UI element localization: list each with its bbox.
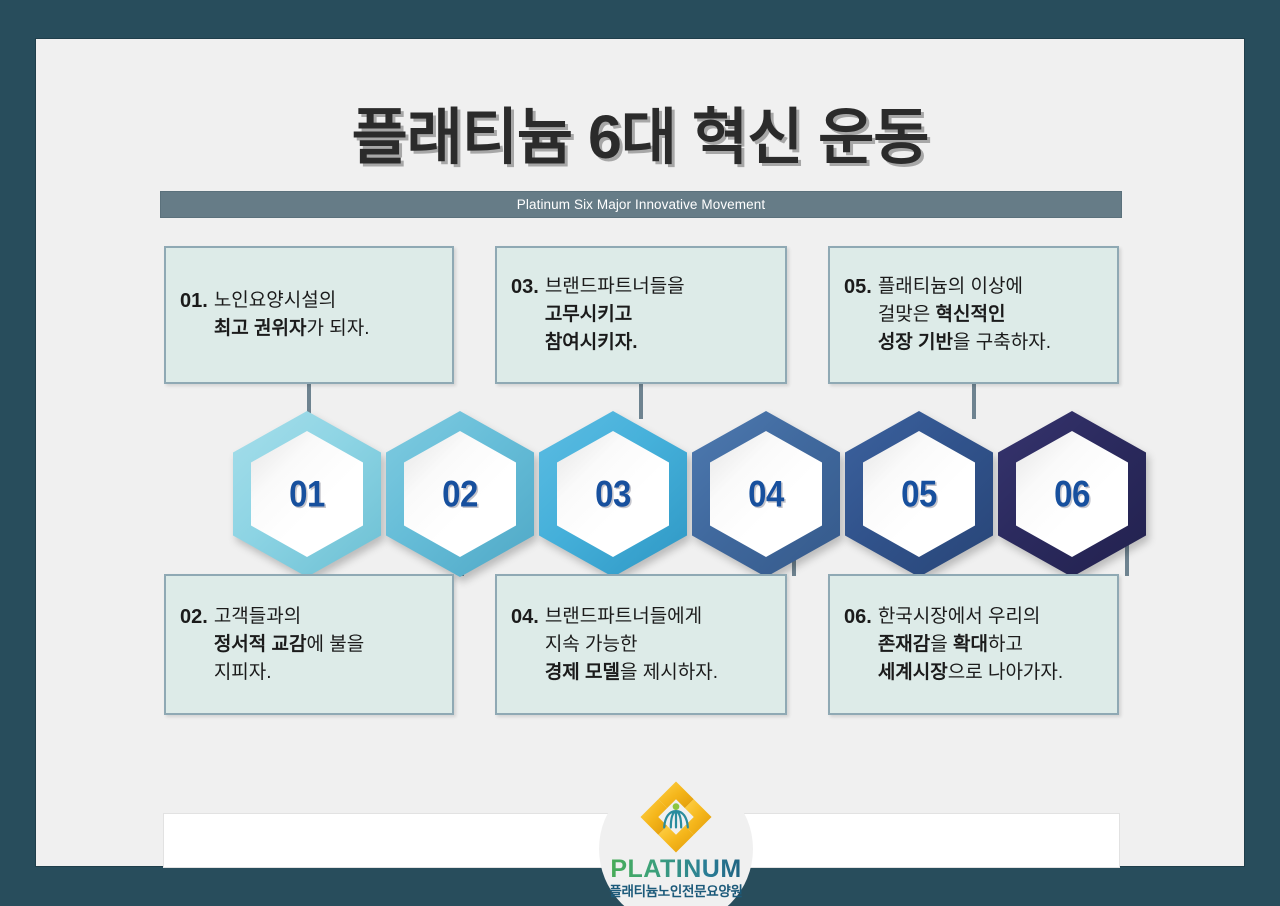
- info-tail: 하고: [988, 633, 1023, 654]
- info-box-text: 고객들과의 정서적 교감에 불을 지피자.: [214, 602, 364, 686]
- info-emphasis: 고무시키고: [545, 304, 632, 325]
- info-box-number: 04.: [511, 602, 539, 632]
- poster-canvas: 플래티늄 6대 혁신 운동 Platinum Six Major Innovat…: [0, 0, 1280, 906]
- hexagon-03[interactable]: 03: [539, 411, 687, 577]
- info-box-05: 05. 플래티늄의 이상에 걸맞은 혁신적인 성장 기반을 구축하자.: [828, 246, 1119, 384]
- info-line: 고무시키고: [545, 301, 685, 329]
- info-line: 성장 기반을 구축하자.: [878, 329, 1051, 357]
- info-emphasis: 정서적 교감: [214, 633, 307, 654]
- hexagon-number: 06: [1054, 473, 1090, 516]
- info-line: 플래티늄의 이상에: [878, 273, 1051, 301]
- info-box-text: 브랜드파트너들을 고무시키고 참여시키자.: [545, 273, 685, 357]
- info-tail: 으로 나아가자.: [948, 662, 1063, 683]
- info-box-06: 06. 한국시장에서 우리의 존재감을 확대하고 세계시장으로 나아가자.: [828, 574, 1119, 715]
- info-box-number: 01.: [180, 287, 208, 317]
- info-emphasis: 존재감: [878, 633, 930, 654]
- info-emphasis: 경제 모델: [545, 662, 620, 683]
- info-tail: 에 불을: [307, 633, 365, 654]
- info-line: 걸맞은 혁신적인: [878, 301, 1051, 329]
- info-line: 한국시장에서 우리의: [878, 602, 1063, 630]
- info-line: 브랜드파트너들에게: [545, 602, 718, 630]
- platinum-diamond-svg: [639, 780, 713, 854]
- info-line: 고객들과의: [214, 602, 364, 630]
- info-tail: 가 되자.: [307, 318, 370, 339]
- info-line: 세계시장으로 나아가자.: [878, 659, 1063, 687]
- hexagon-06[interactable]: 06: [998, 411, 1146, 577]
- info-box-number: 06.: [844, 602, 872, 632]
- info-tail: 을 제시하자.: [620, 662, 718, 683]
- hexagon-number: 01: [289, 473, 325, 516]
- hexagon-05[interactable]: 05: [845, 411, 993, 577]
- info-tail: 을: [930, 633, 953, 654]
- hexagon-number: 03: [595, 473, 631, 516]
- info-box-number: 02.: [180, 602, 208, 632]
- hexagon-01[interactable]: 01: [233, 411, 381, 577]
- info-line: 참여시키자.: [545, 329, 685, 357]
- info-emphasis: 최고 권위자: [214, 318, 307, 339]
- logo-wordmark: PLATINUM: [599, 856, 753, 884]
- info-line: 지피자.: [214, 659, 364, 687]
- info-emphasis: 확대: [953, 633, 988, 654]
- info-line: 지속 가능한: [545, 630, 718, 658]
- platinum-diamond-icon: [639, 780, 713, 854]
- info-box-04: 04. 브랜드파트너들에게 지속 가능한 경제 모델을 제시하자.: [495, 574, 787, 715]
- info-box-03: 03. 브랜드파트너들을 고무시키고 참여시키자.: [495, 246, 787, 384]
- info-box-number: 05.: [844, 273, 872, 303]
- info-line: 정서적 교감에 불을: [214, 630, 364, 658]
- page-title: 플래티늄 6대 혁신 운동: [36, 87, 1244, 176]
- info-box-text: 브랜드파트너들에게 지속 가능한 경제 모델을 제시하자.: [545, 602, 718, 686]
- info-line: 최고 권위자가 되자.: [214, 315, 370, 343]
- info-emphasis: 혁신적인: [936, 304, 1006, 325]
- info-emphasis: 세계시장: [878, 662, 948, 683]
- hexagon-02[interactable]: 02: [386, 411, 534, 577]
- info-line: 존재감을 확대하고: [878, 630, 1063, 658]
- poster-page: 플래티늄 6대 혁신 운동 Platinum Six Major Innovat…: [35, 38, 1245, 867]
- hexagon-number: 05: [901, 473, 937, 516]
- hexagon-04[interactable]: 04: [692, 411, 840, 577]
- info-box-02: 02. 고객들과의 정서적 교감에 불을 지피자.: [164, 574, 454, 715]
- info-line: 브랜드파트너들을: [545, 273, 685, 301]
- brand-logo: PLATINUM 플래티늄노인전문요양원: [599, 774, 753, 900]
- subtitle-bar: Platinum Six Major Innovative Movement: [160, 191, 1122, 218]
- info-box-text: 한국시장에서 우리의 존재감을 확대하고 세계시장으로 나아가자.: [878, 602, 1063, 686]
- hexagon-number: 02: [442, 473, 478, 516]
- hexagon-number: 04: [748, 473, 784, 516]
- info-line: 경제 모델을 제시하자.: [545, 659, 718, 687]
- info-box-text: 플래티늄의 이상에 걸맞은 혁신적인 성장 기반을 구축하자.: [878, 273, 1051, 357]
- info-line: 노인요양시설의: [214, 287, 370, 315]
- info-emphasis: 성장 기반: [878, 332, 953, 353]
- hexagon-row: 01 02 03 04: [36, 411, 1244, 577]
- info-box-01: 01. 노인요양시설의 최고 권위자가 되자.: [164, 246, 454, 384]
- subtitle-text: Platinum Six Major Innovative Movement: [517, 197, 765, 212]
- info-box-number: 03.: [511, 273, 539, 303]
- info-box-text: 노인요양시설의 최고 권위자가 되자.: [214, 287, 370, 343]
- info-tail: 을 구축하자.: [953, 332, 1051, 353]
- info-emphasis: 참여시키자.: [545, 332, 638, 353]
- logo-korean-name: 플래티늄노인전문요양원: [599, 884, 753, 900]
- info-head: 걸맞은: [878, 304, 936, 325]
